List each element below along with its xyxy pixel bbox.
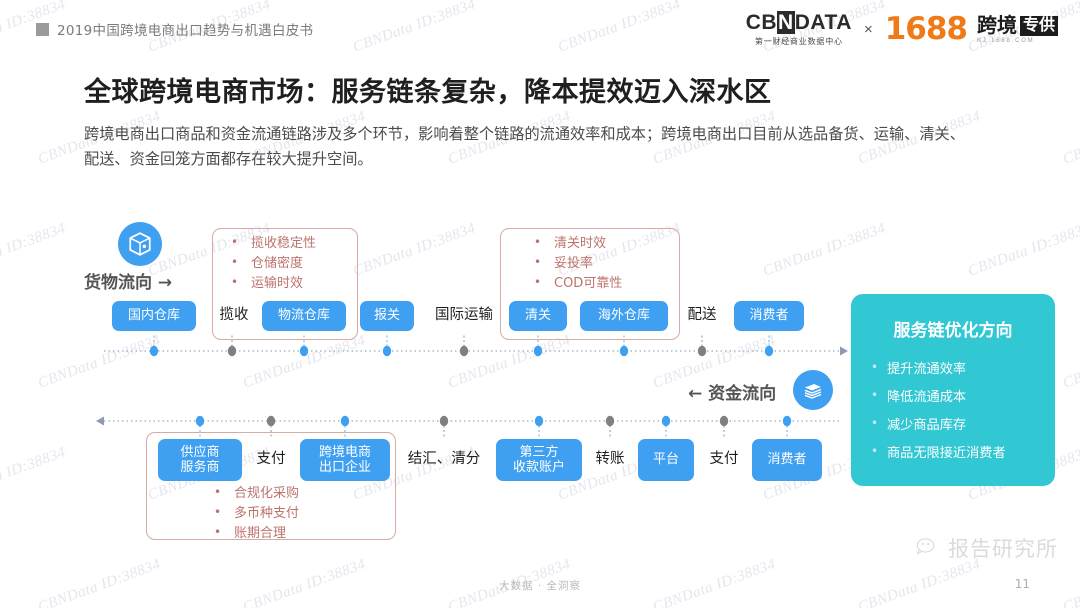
funds-timeline-dot — [267, 416, 275, 426]
logo-zhuangong-text: 专供 — [1020, 16, 1058, 36]
goods-timeline-dot — [698, 346, 706, 356]
cbndata-n: N — [777, 11, 795, 34]
goods-timeline-dot — [620, 346, 628, 356]
goods-timeline-dot — [150, 346, 158, 356]
funds-timeline-dot — [341, 416, 349, 426]
optimization-panel-item: 降低流通成本 — [869, 384, 1006, 412]
customs-callout-item: 妥投率 — [528, 254, 622, 274]
optimization-panel-item: 减少商品库存 — [869, 412, 1006, 440]
funds-chain-node: 平台 — [638, 439, 694, 481]
payment-callout-list: 合规化采购多币种支付账期合理 — [208, 484, 299, 543]
cbndata-data: DATA — [795, 11, 852, 34]
funds-timeline-dot — [720, 416, 728, 426]
payment-callout-item: 多币种支付 — [208, 504, 299, 524]
optimization-panel-title: 服务链优化方向 — [851, 316, 1055, 341]
header-tag-label: 2019中国跨境电商出口趋势与机遇白皮书 — [57, 19, 313, 39]
funds-timeline-dot — [606, 416, 614, 426]
goods-chain-node: 消费者 — [734, 301, 804, 331]
logistics-callout-item: 仓储密度 — [225, 254, 316, 274]
logistics-callout-list: 揽收稳定性仓储密度运输时效 — [225, 234, 316, 293]
goods-timeline-dot — [534, 346, 542, 356]
logo-group: CBNDATA 第一财经商业数据中心 × 1688 跨境 专供 KJ.1688.… — [746, 12, 1058, 47]
header-tag: 2019中国跨境电商出口趋势与机遇白皮书 — [36, 19, 313, 39]
logistics-callout-item: 运输时效 — [225, 274, 316, 294]
goods-timeline-arrow — [840, 347, 848, 356]
optimization-panel-item: 提升流通效率 — [869, 356, 1006, 384]
goods-timeline-dot — [228, 346, 236, 356]
logo-x-separator: × — [864, 21, 873, 38]
customs-callout-list: 清关时效妥投率COD可靠性 — [528, 234, 622, 293]
cbndata-cb: CB — [746, 11, 777, 34]
funds-timeline-dot — [196, 416, 204, 426]
optimization-panel: 服务链优化方向 提升流通效率降低流通成本减少商品库存商品无限接近消费者 — [851, 294, 1055, 486]
funds-chain-node: 第三方 收款账户 — [496, 439, 582, 481]
goods-chain-node: 国内仓库 — [112, 301, 196, 331]
logistics-callout-item: 揽收稳定性 — [225, 234, 316, 254]
slide-root: CBNData ID:38834CBNData ID:38834CBNData … — [0, 0, 1080, 608]
logo-1688: 1688 — [885, 14, 967, 45]
page-lede: 跨境电商出口商品和资金流通链路涉及多个环节，影响着整个链路的流通效率和成本；跨境… — [84, 122, 974, 171]
goods-timeline-dot — [460, 346, 468, 356]
page-title: 全球跨境电商市场：服务链条复杂，降本提效迈入深水区 — [84, 70, 772, 109]
cbndata-wordmark: CBNDATA — [746, 12, 852, 33]
optimization-panel-list: 提升流通效率降低流通成本减少商品库存商品无限接近消费者 — [869, 356, 1006, 468]
logo-kuajing-url: KJ.1688.COM — [977, 38, 1034, 44]
goods-chain-node: 国际运输 — [425, 301, 503, 331]
payment-callout-item: 合规化采购 — [208, 484, 299, 504]
funds-timeline-dot — [535, 416, 543, 426]
customs-callout-item: 清关时效 — [528, 234, 622, 254]
optimization-panel-item: 商品无限接近消费者 — [869, 440, 1006, 468]
funds-timeline-dot — [783, 416, 791, 426]
goods-chain-node: 报关 — [360, 301, 414, 331]
funds-timeline-arrow — [96, 417, 104, 426]
header-square-marker — [36, 23, 49, 36]
goods-timeline-dot — [765, 346, 773, 356]
goods-timeline-dot — [383, 346, 391, 356]
goods-chain-node: 配送 — [680, 301, 724, 331]
footer-tagline: 大数据 · 全洞察 — [0, 578, 1080, 593]
funds-chain-node: 转账 — [588, 439, 632, 481]
goods-timeline-dot — [300, 346, 308, 356]
logo-kuajing-text: 跨境 — [977, 16, 1017, 36]
cbndata-logo: CBNDATA 第一财经商业数据中心 — [746, 12, 852, 47]
logo-kuajing: 跨境 专供 KJ.1688.COM — [977, 16, 1058, 44]
customs-callout-item: COD可靠性 — [528, 274, 622, 294]
cbndata-subtitle: 第一财经商业数据中心 — [755, 36, 843, 47]
funds-chain-node: 结汇、清分 — [398, 439, 490, 481]
payment-callout-item: 账期合理 — [208, 524, 299, 544]
funds-timeline-dot — [662, 416, 670, 426]
funds-chain-node: 消费者 — [752, 439, 822, 481]
funds-timeline-dot — [440, 416, 448, 426]
logo-kuajing-row: 跨境 专供 — [977, 16, 1058, 36]
page-number: 11 — [1015, 577, 1030, 591]
funds-chain-node: 支付 — [702, 439, 746, 481]
